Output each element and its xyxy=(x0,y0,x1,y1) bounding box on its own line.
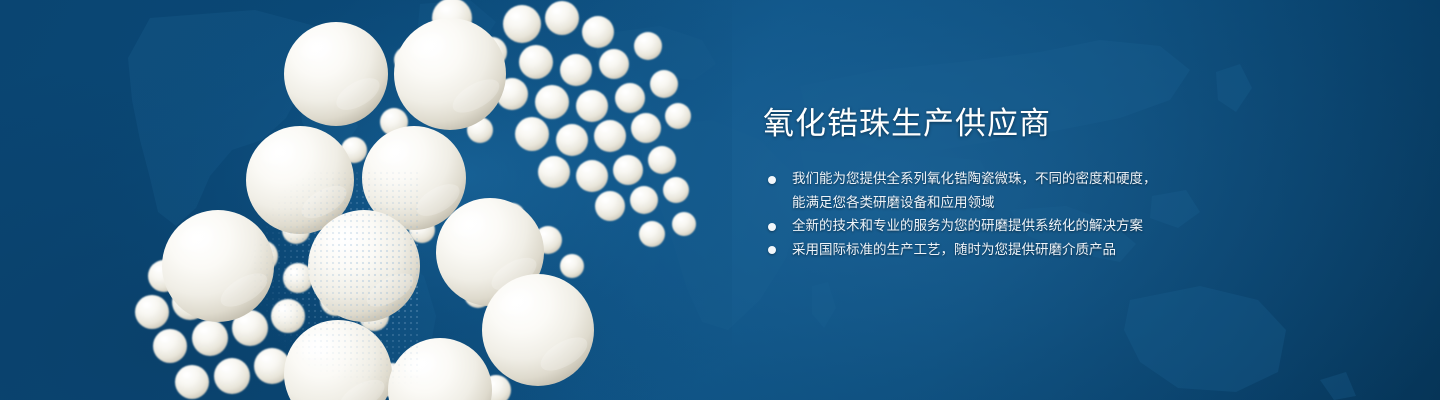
list-item: 我们能为您提供全系列氧化锆陶瓷微珠，不同的密度和硬度， 能满足您各类研磨设备和应… xyxy=(763,167,1383,214)
zirconia-beads-photo xyxy=(92,0,732,400)
list-item-line: 我们能为您提供全系列氧化锆陶瓷微珠，不同的密度和硬度， xyxy=(792,167,1383,191)
hero-banner: 氧化锆珠生产供应商 我们能为您提供全系列氧化锆陶瓷微珠，不同的密度和硬度， 能满… xyxy=(0,0,1440,400)
banner-copy: 氧化锆珠生产供应商 我们能为您提供全系列氧化锆陶瓷微珠，不同的密度和硬度， 能满… xyxy=(763,104,1383,261)
halftone-texture xyxy=(120,170,420,400)
list-item: 全新的技术和专业的服务为您的研磨提供系统化的解决方案 xyxy=(763,214,1383,238)
page-title: 氧化锆珠生产供应商 xyxy=(763,104,1383,144)
list-item-line: 采用国际标准的生产工艺，随时为您提供研磨介质产品 xyxy=(792,238,1383,262)
bullet-dot-icon xyxy=(768,223,776,231)
bullet-dot-icon xyxy=(768,246,776,254)
list-item: 采用国际标准的生产工艺，随时为您提供研磨介质产品 xyxy=(763,238,1383,262)
list-item-line: 能满足您各类研磨设备和应用领域 xyxy=(792,191,1383,215)
list-item-line: 全新的技术和专业的服务为您的研磨提供系统化的解决方案 xyxy=(792,214,1383,238)
bullet-dot-icon xyxy=(768,176,776,184)
feature-list: 我们能为您提供全系列氧化锆陶瓷微珠，不同的密度和硬度， 能满足您各类研磨设备和应… xyxy=(763,167,1383,261)
